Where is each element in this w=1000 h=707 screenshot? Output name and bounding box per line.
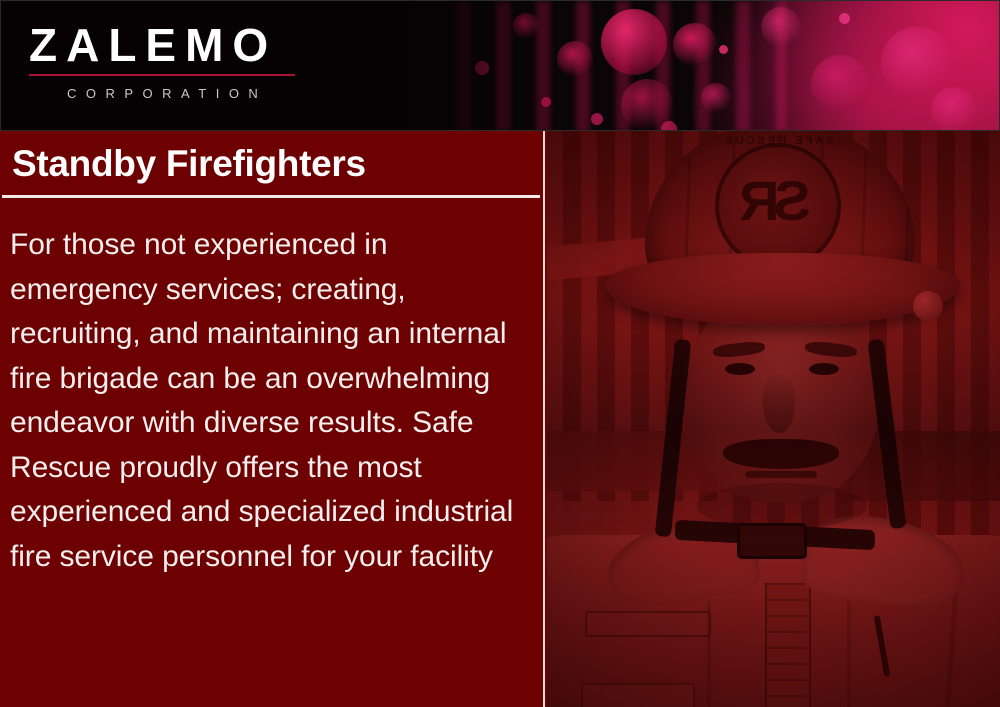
slide-root: ZALEMO CORPORATION Standby Firefighters … <box>0 0 1000 707</box>
page-title: Standby Firefighters <box>12 143 366 185</box>
brand-name: ZALEMO <box>29 19 299 71</box>
brand-subtitle: CORPORATION <box>29 86 299 101</box>
brand-divider <box>29 74 295 76</box>
photo-vignette <box>547 131 1000 707</box>
body-text: For those not experienced in emergency s… <box>10 223 540 579</box>
firefighter-photo: SAFE RESCUE SR <box>547 131 1000 707</box>
header-banner: ZALEMO CORPORATION <box>0 0 1000 131</box>
title-divider <box>2 195 540 198</box>
bokeh-glow <box>581 1 1000 131</box>
content-panel: Standby Firefighters For those not exper… <box>0 131 545 707</box>
brand-logo: ZALEMO CORPORATION <box>29 19 299 101</box>
